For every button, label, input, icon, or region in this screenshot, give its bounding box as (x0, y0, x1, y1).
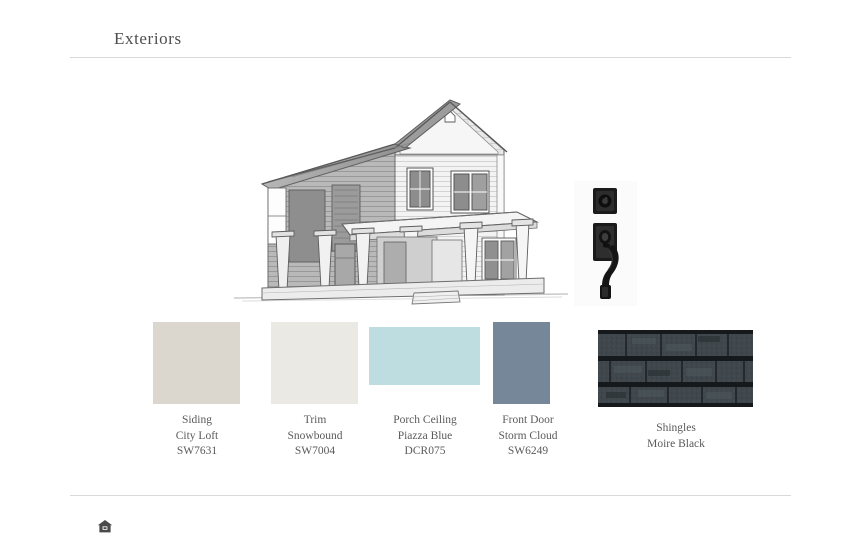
swatch-chip (271, 322, 358, 404)
equal-housing-opportunity-icon (97, 519, 113, 534)
caption-name: City Loft (147, 429, 247, 445)
swatch-shingles[interactable] (598, 330, 753, 407)
house-elevation-rendering (232, 72, 572, 310)
swatch-caption-shingles: Shingles Moire Black (620, 421, 732, 452)
caption-name: Storm Cloud (472, 429, 584, 445)
page-title: Exteriors (114, 29, 182, 49)
caption-name: Piazza Blue (375, 429, 475, 445)
caption-use: Trim (265, 413, 365, 429)
swatch-trim[interactable] (271, 322, 358, 404)
swatch-chip (369, 327, 480, 385)
caption-use: Siding (147, 413, 247, 429)
swatch-caption-porch-ceiling: Porch Ceiling Piazza Blue DCR075 (375, 413, 475, 460)
caption-name: Moire Black (620, 437, 732, 453)
caption-use: Front Door (472, 413, 584, 429)
swatch-siding[interactable] (153, 322, 240, 404)
header-divider (70, 57, 791, 58)
swatch-chip (493, 322, 550, 404)
caption-code: DCR075 (375, 444, 475, 460)
swatch-chip (153, 322, 240, 404)
swatch-caption-siding: Siding City Loft SW7631 (147, 413, 247, 460)
footer-divider (70, 495, 791, 496)
caption-code: SW7631 (147, 444, 247, 460)
swatch-front-door[interactable] (493, 322, 550, 404)
door-handleset-photo (574, 181, 637, 306)
caption-use: Porch Ceiling (375, 413, 475, 429)
caption-code: SW6249 (472, 444, 584, 460)
swatch-caption-trim: Trim Snowbound SW7004 (265, 413, 365, 460)
caption-use: Shingles (620, 421, 732, 437)
caption-name: Snowbound (265, 429, 365, 445)
shingle-texture (598, 330, 753, 407)
caption-code: SW7004 (265, 444, 365, 460)
swatch-porch-ceiling[interactable] (369, 327, 480, 385)
swatch-caption-front-door: Front Door Storm Cloud SW6249 (472, 413, 584, 460)
